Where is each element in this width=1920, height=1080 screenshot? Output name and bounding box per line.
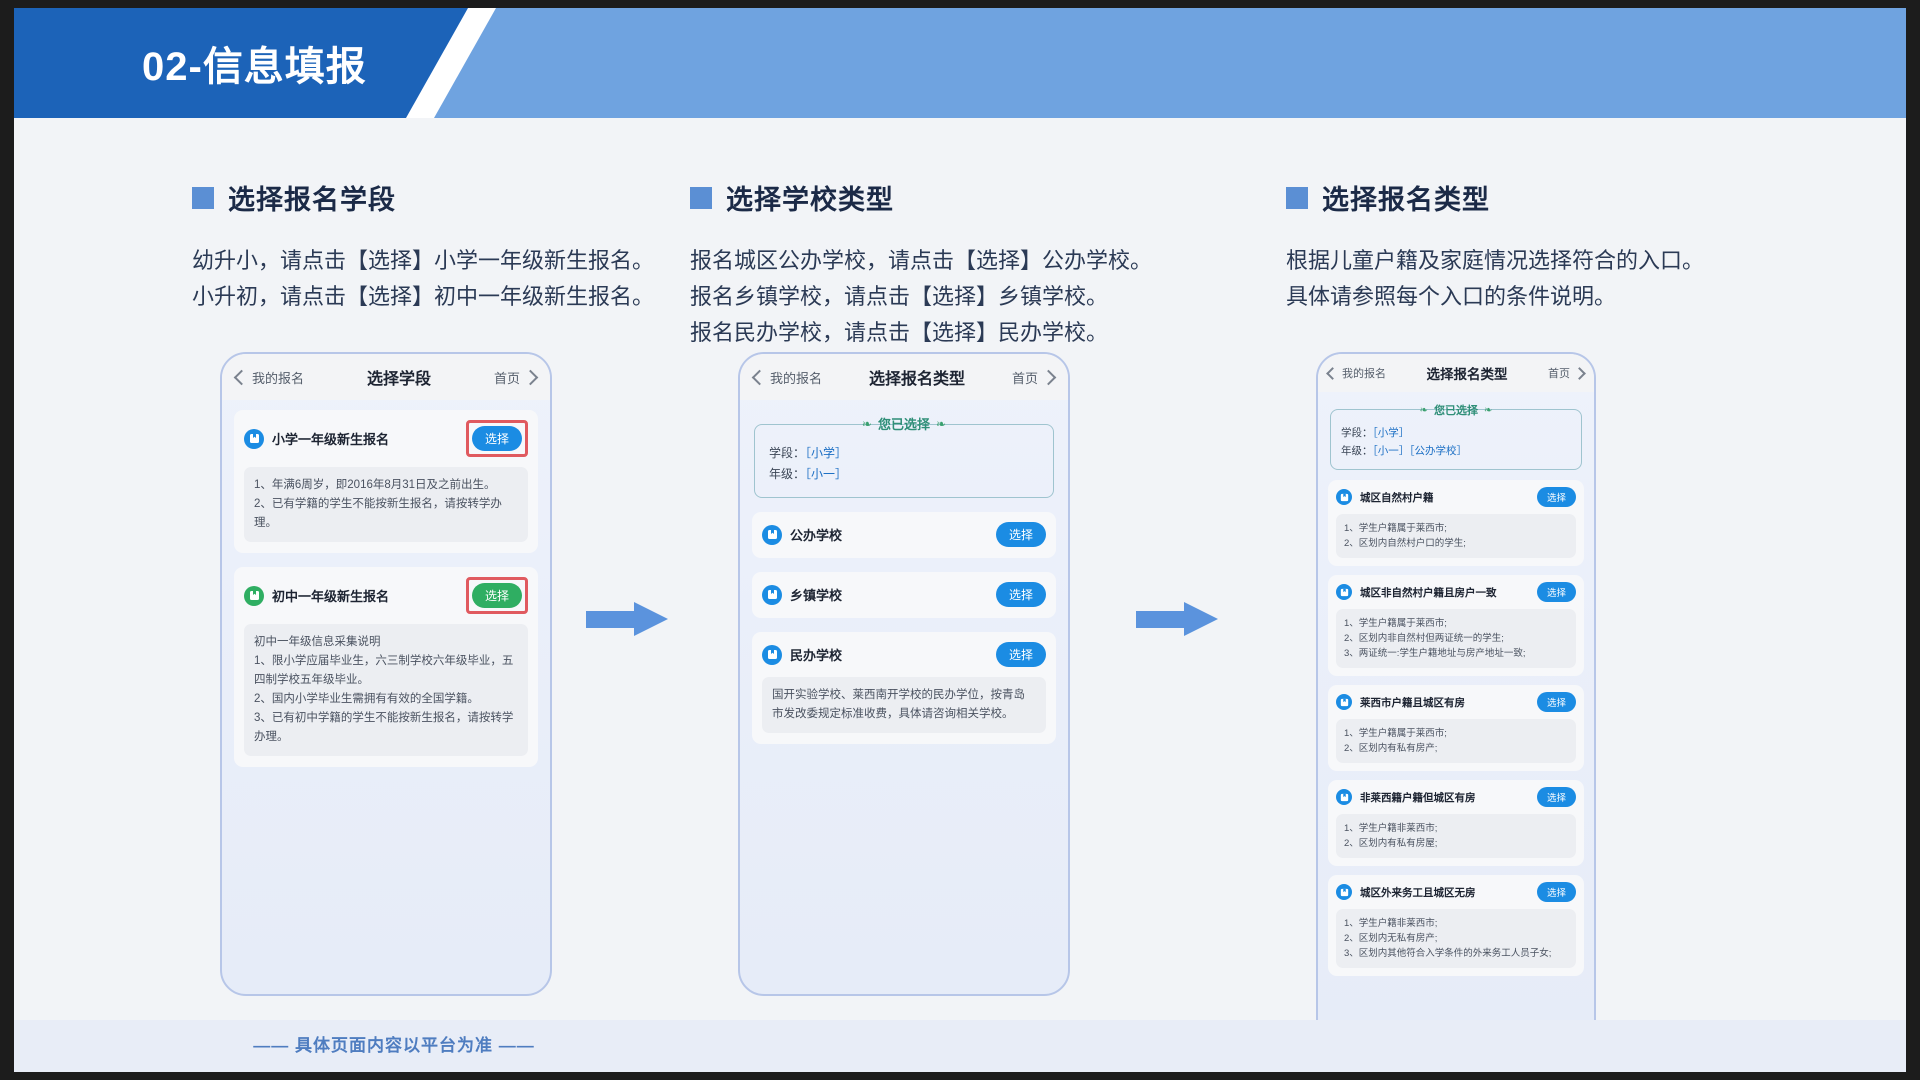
slide-header: 02-信息填报 xyxy=(14,8,1906,118)
phone2-home-button[interactable]: 首页 xyxy=(1012,368,1054,387)
book-icon xyxy=(1336,584,1352,600)
leaf-left-icon: ❧ xyxy=(1420,405,1428,416)
phone1-item2-desc: 初中一年级信息采集说明 1、限小学应届毕业生，六三制学校六年级毕业，五四制学校五… xyxy=(244,624,528,756)
phone3-navbar: 我的报名 选择报名类型 首页 xyxy=(1318,354,1594,392)
column-3-line-1: 根据儿童户籍及家庭情况选择符合的入口。 xyxy=(1286,243,1704,279)
phone2-selected-value-2: ［小一］ xyxy=(805,467,847,481)
phone3-item5-name: 城区外来务工且城区无房 xyxy=(1360,885,1476,900)
phone3-selected-title: 您已选择 xyxy=(1434,402,1478,418)
list-item[interactable]: 公办学校 选择 xyxy=(752,512,1056,558)
list-item[interactable]: 城区非自然村户籍且房户一致 选择 1、学生户籍属于莱西市; 2、区划内非自然村但… xyxy=(1328,575,1584,676)
column-3-title: 选择报名类型 xyxy=(1322,178,1490,217)
footer-note: —— 具体页面内容以平台为准 —— xyxy=(14,1031,774,1056)
phone1-navbar: 我的报名 选择学段 首页 xyxy=(222,354,550,400)
select-button[interactable]: 选择 xyxy=(996,642,1046,667)
book-icon xyxy=(762,585,782,605)
column-2-line-1: 报名城区公办学校，请点击【选择】公办学校。 xyxy=(690,243,1152,279)
phone2-item2-name: 乡镇学校 xyxy=(790,585,842,604)
phone2-navbar: 我的报名 选择报名类型 首页 xyxy=(740,354,1068,400)
phone1-back-button[interactable]: 我的报名 xyxy=(236,368,304,387)
book-icon xyxy=(244,429,264,449)
list-item[interactable]: 非莱西籍户籍但城区有房 选择 1、学生户籍非莱西市; 2、区划内有私有房屋; xyxy=(1328,780,1584,866)
list-item[interactable]: 民办学校 选择 国开实验学校、莱西南开学校的民办学位，按青岛市发改委规定标准收费… xyxy=(752,632,1056,744)
book-icon xyxy=(762,645,782,665)
phone3-back-label: 我的报名 xyxy=(1342,365,1386,381)
column-2-heading: 选择学校类型 xyxy=(690,178,1152,217)
column-3-heading: 选择报名类型 xyxy=(1286,178,1704,217)
list-item[interactable]: 初中一年级新生报名 选择 初中一年级信息采集说明 1、限小学应届毕业生，六三制学… xyxy=(234,567,538,767)
phone-mockup-3: 我的报名 选择报名类型 首页 ❧ 您已选择 ❧ 学段：［小学］ xyxy=(1316,352,1596,1056)
phone3-selected-value-2: ［小一］［公办学校］ xyxy=(1373,445,1468,457)
phone2-title: 选择报名类型 xyxy=(822,365,1012,389)
column-3: 选择报名类型 根据儿童户籍及家庭情况选择符合的入口。 具体请参照每个入口的条件说… xyxy=(1286,178,1704,315)
phone3-selected-box: 学段：［小学］ 年级：［小一］［公办学校］ xyxy=(1330,409,1582,470)
leaf-right-icon: ❧ xyxy=(936,417,946,431)
phone3-selected-label-1: 学段： xyxy=(1341,427,1373,439)
phone2-selected-value-1: ［小学］ xyxy=(805,446,847,460)
phone3-item2-row: 城区非自然村户籍且房户一致 选择 xyxy=(1336,582,1576,602)
column-2-line-3: 报名民办学校，请点击【选择】民办学校。 xyxy=(690,315,1152,351)
column-2-title: 选择学校类型 xyxy=(726,178,894,217)
select-button[interactable]: 选择 xyxy=(1537,787,1576,807)
phone2-back-button[interactable]: 我的报名 xyxy=(754,368,822,387)
phone1-item1-row: 小学一年级新生报名 选择 xyxy=(244,420,528,457)
chevron-right-icon xyxy=(523,369,539,385)
phone1-item1-desc: 1、年满6周岁，即2016年8月31日及之前出生。 2、已有学籍的学生不能按新生… xyxy=(244,467,528,542)
phone2-selected-title-row: ❧ 您已选择 ❧ xyxy=(754,414,1054,433)
phone2-body: ❧ 您已选择 ❧ 学段：［小学］ 年级：［小一］ xyxy=(740,400,1068,768)
phone2-item3-desc: 国开实验学校、莱西南开学校的民办学位，按青岛市发改委规定标准收费，具体请咨询相关… xyxy=(762,677,1046,733)
phone2-item2-row: 乡镇学校 选择 xyxy=(762,582,1046,607)
phone3-back-button[interactable]: 我的报名 xyxy=(1328,365,1386,381)
phone3-item3-row: 莱西市户籍且城区有房 选择 xyxy=(1336,692,1576,712)
phone3-item5-desc: 1、学生户籍非莱西市; 2、区划内无私有房产; 3、区划内其他符合入学条件的外来… xyxy=(1336,909,1576,968)
select-button[interactable]: 选择 xyxy=(1537,882,1576,902)
book-icon xyxy=(1336,884,1352,900)
phone2-selected-line-2: 年级：［小一］ xyxy=(769,464,1039,485)
column-1-line-1: 幼升小，请点击【选择】小学一年级新生报名。 xyxy=(192,243,654,279)
list-item[interactable]: 小学一年级新生报名 选择 1、年满6周岁，即2016年8月31日及之前出生。 2… xyxy=(234,410,538,553)
page-title: 02-信息填报 xyxy=(142,34,367,92)
phone3-selected-title-row: ❧ 您已选择 ❧ xyxy=(1330,402,1582,418)
phone3-item4-row: 非莱西籍户籍但城区有房 选择 xyxy=(1336,787,1576,807)
phone3-item1-desc: 1、学生户籍属于莱西市; 2、区划内自然村户口的学生; xyxy=(1336,514,1576,558)
phone3-item3-desc: 1、学生户籍属于莱西市; 2、区划内有私有房产; xyxy=(1336,719,1576,763)
chevron-left-icon xyxy=(1326,367,1339,380)
phone3-item5-row: 城区外来务工且城区无房 选择 xyxy=(1336,882,1576,902)
phone1-title: 选择学段 xyxy=(304,365,494,389)
column-1-heading: 选择报名学段 xyxy=(192,178,654,217)
list-item[interactable]: 城区外来务工且城区无房 选择 1、学生户籍非莱西市; 2、区划内无私有房产; 3… xyxy=(1328,875,1584,976)
select-button[interactable]: 选择 xyxy=(472,426,522,451)
phone2-item3-row: 民办学校 选择 xyxy=(762,642,1046,667)
select-button[interactable]: 选择 xyxy=(1537,487,1576,507)
phone2-selected-label-2: 年级： xyxy=(769,467,805,481)
arrow-right-icon-1 xyxy=(586,602,668,636)
phone2-home-label: 首页 xyxy=(1012,368,1038,387)
square-bullet-icon xyxy=(1286,187,1308,209)
phone3-title: 选择报名类型 xyxy=(1386,363,1548,383)
phone1-back-label: 我的报名 xyxy=(252,368,304,387)
phone-mockup-1: 我的报名 选择学段 首页 小学一年级新生报名 选择 1、年满6周岁 xyxy=(220,352,552,996)
book-icon xyxy=(1336,789,1352,805)
phone1-home-label: 首页 xyxy=(494,368,520,387)
phone1-body: 小学一年级新生报名 选择 1、年满6周岁，即2016年8月31日及之前出生。 2… xyxy=(222,400,550,791)
book-icon xyxy=(244,586,264,606)
book-icon xyxy=(1336,489,1352,505)
phone3-home-button[interactable]: 首页 xyxy=(1548,365,1584,381)
select-button[interactable]: 选择 xyxy=(472,583,522,608)
phone3-item4-desc: 1、学生户籍非莱西市; 2、区划内有私有房屋; xyxy=(1336,814,1576,858)
phone3-item1-name: 城区自然村户籍 xyxy=(1360,490,1434,505)
square-bullet-icon xyxy=(192,187,214,209)
phone1-item1-name: 小学一年级新生报名 xyxy=(272,429,389,448)
chevron-left-icon xyxy=(752,369,768,385)
book-icon xyxy=(762,525,782,545)
phone2-selected-label-1: 学段： xyxy=(769,446,805,460)
phone2-selected-box: 学段：［小学］ 年级：［小一］ xyxy=(754,424,1054,498)
phone3-selected-label-2: 年级： xyxy=(1341,445,1373,457)
list-item[interactable]: 乡镇学校 选择 xyxy=(752,572,1056,618)
phone3-home-label: 首页 xyxy=(1548,365,1570,381)
phone2-item1-row: 公办学校 选择 xyxy=(762,522,1046,547)
book-icon xyxy=(1336,694,1352,710)
leaf-right-icon: ❧ xyxy=(1484,405,1492,416)
phone2-back-label: 我的报名 xyxy=(770,368,822,387)
phone3-selected-value-1: ［小学］ xyxy=(1373,427,1410,439)
chevron-right-icon xyxy=(1573,367,1586,380)
phone3-item2-desc: 1、学生户籍属于莱西市; 2、区划内非自然村但两证统一的学生; 3、两证统一:学… xyxy=(1336,609,1576,668)
phone3-selected-summary: ❧ 您已选择 ❧ 学段：［小学］ 年级：［小一］［公办学校］ xyxy=(1330,402,1582,470)
phone3-item4-name: 非莱西籍户籍但城区有房 xyxy=(1360,790,1476,805)
phone1-item2-select-highlight: 选择 xyxy=(466,577,528,614)
select-button[interactable]: 选择 xyxy=(1537,582,1576,602)
phone-mockup-2: 我的报名 选择报名类型 首页 ❧ 您已选择 ❧ 学段：［小学］ xyxy=(738,352,1070,996)
select-button[interactable]: 选择 xyxy=(996,522,1046,547)
leaf-left-icon: ❧ xyxy=(862,417,872,431)
phone3-item3-name: 莱西市户籍且城区有房 xyxy=(1360,695,1465,710)
phone2-item1-name: 公办学校 xyxy=(790,525,842,544)
select-button[interactable]: 选择 xyxy=(1537,692,1576,712)
column-1-line-2: 小升初，请点击【选择】初中一年级新生报名。 xyxy=(192,279,654,315)
phone3-body: ❧ 您已选择 ❧ 学段：［小学］ 年级：［小一］［公办学校］ xyxy=(1318,392,1594,991)
select-button[interactable]: 选择 xyxy=(996,582,1046,607)
arrow-right-icon-2 xyxy=(1136,602,1218,636)
column-2: 选择学校类型 报名城区公办学校，请点击【选择】公办学校。 报名乡镇学校，请点击【… xyxy=(690,178,1152,351)
slide-root: 02-信息填报 选择报名学段 幼升小，请点击【选择】小学一年级新生报名。 小升初… xyxy=(14,8,1906,1072)
list-item[interactable]: 城区自然村户籍 选择 1、学生户籍属于莱西市; 2、区划内自然村户口的学生; xyxy=(1328,480,1584,566)
phone1-home-button[interactable]: 首页 xyxy=(494,368,536,387)
phone1-item1-select-highlight: 选择 xyxy=(466,420,528,457)
phone2-selected-title: 您已选择 xyxy=(878,414,930,433)
phone2-selected-line-1: 学段：［小学］ xyxy=(769,443,1039,464)
chevron-right-icon xyxy=(1041,369,1057,385)
phone1-item2-row: 初中一年级新生报名 选择 xyxy=(244,577,528,614)
column-2-line-2: 报名乡镇学校，请点击【选择】乡镇学校。 xyxy=(690,279,1152,315)
phone1-item2-name: 初中一年级新生报名 xyxy=(272,586,389,605)
square-bullet-icon xyxy=(690,187,712,209)
phone2-item3-name: 民办学校 xyxy=(790,645,842,664)
phone2-selected-summary: ❧ 您已选择 ❧ 学段：［小学］ 年级：［小一］ xyxy=(754,414,1054,498)
phone3-selected-line-2: 年级：［小一］［公办学校］ xyxy=(1341,442,1571,460)
phone3-item1-row: 城区自然村户籍 选择 xyxy=(1336,487,1576,507)
column-1-title: 选择报名学段 xyxy=(228,178,396,217)
list-item[interactable]: 莱西市户籍且城区有房 选择 1、学生户籍属于莱西市; 2、区划内有私有房产; xyxy=(1328,685,1584,771)
column-3-line-2: 具体请参照每个入口的条件说明。 xyxy=(1286,279,1704,315)
phone3-selected-line-1: 学段：［小学］ xyxy=(1341,424,1571,442)
column-1: 选择报名学段 幼升小，请点击【选择】小学一年级新生报名。 小升初，请点击【选择】… xyxy=(192,178,654,315)
phone3-item2-name: 城区非自然村户籍且房户一致 xyxy=(1360,585,1497,600)
chevron-left-icon xyxy=(234,369,250,385)
slide-footer: —— 具体页面内容以平台为准 —— xyxy=(14,1020,1906,1072)
